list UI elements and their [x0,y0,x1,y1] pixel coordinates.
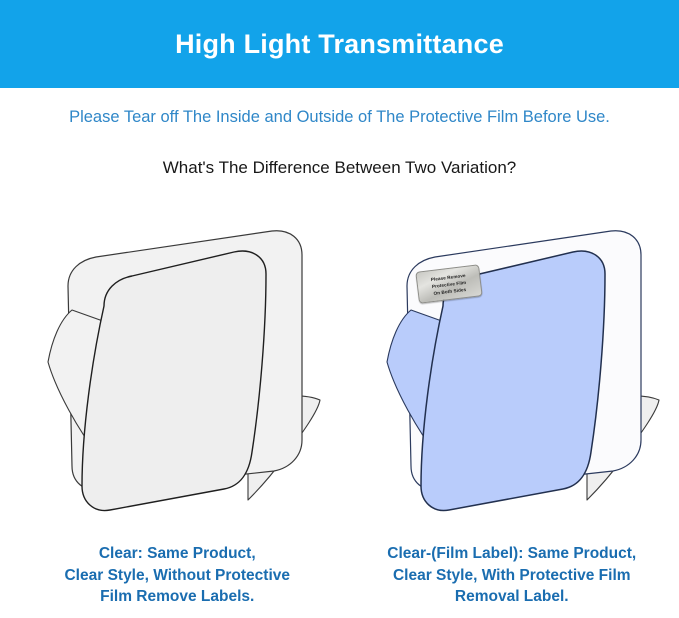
comparison-question: What's The Difference Between Two Variat… [0,158,679,178]
product-image-clear-film-label [339,190,679,540]
caption-film-line-2: Clear Style, With Protective Film [363,565,662,587]
caption-film-line-3: Removal Label. [363,586,662,608]
product-image-clear [0,190,340,540]
header-banner: High Light Transmittance [0,0,679,88]
caption-clear-film-label: Clear-(Film Label): Same Product, Clear … [349,543,679,618]
front-sheet-film [421,251,605,510]
page-title: High Light Transmittance [175,29,504,60]
instruction-subtitle: Please Tear off The Inside and Outside o… [0,108,679,127]
caption-clear-line-2: Clear Style, Without Protective [28,565,327,587]
product-comparison-illustration [0,190,679,540]
caption-clear-line-3: Film Remove Labels. [28,586,327,608]
front-sheet-clear [82,251,266,510]
caption-clear-line-1: Clear: Same Product, [28,543,327,565]
caption-film-line-1: Clear-(Film Label): Same Product, [363,543,662,565]
caption-clear: Clear: Same Product, Clear Style, Withou… [0,543,349,618]
caption-row: Clear: Same Product, Clear Style, Withou… [0,543,679,618]
